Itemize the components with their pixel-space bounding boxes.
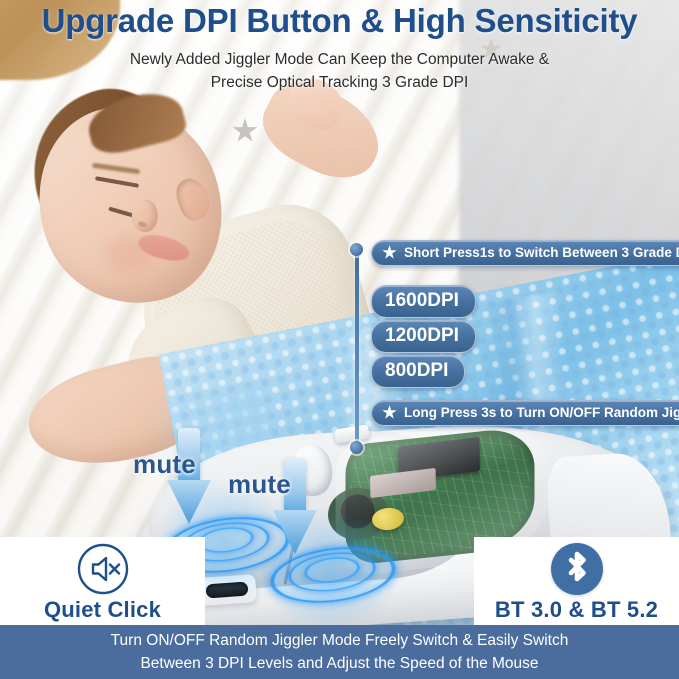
product-marketing-image: mute mute Upgrade DPI Button & High Sens…: [0, 0, 679, 679]
subtitle-line-2: Precise Optical Tracking 3 Grade DPI: [0, 71, 679, 94]
page-title: Upgrade DPI Button & High Sensiticity: [0, 2, 679, 40]
feature-quiet-click: Quiet Click: [0, 537, 205, 623]
callout-dpi-1600-label: 1600DPI: [385, 290, 459, 312]
callout-dpi-1200: 1200DPI: [371, 320, 476, 353]
callout-dpi-800-label: 800DPI: [385, 360, 448, 382]
footer-line-2: Between 3 DPI Levels and Adjust the Spee…: [140, 652, 538, 675]
arrow-head: [167, 480, 211, 524]
mute-speaker-icon: [77, 543, 129, 595]
page-subtitle: Newly Added Jiggler Mode Can Keep the Co…: [0, 48, 679, 94]
subtitle-line-1: Newly Added Jiggler Mode Can Keep the Co…: [0, 48, 679, 71]
star-icon: [382, 245, 397, 260]
feature-quiet-click-label: Quiet Click: [0, 597, 205, 623]
feature-bluetooth-label: BT 3.0 & BT 5.2: [474, 597, 679, 623]
footer-line-1: Turn ON/OFF Random Jiggler Mode Freely S…: [111, 629, 569, 652]
callout-long-press-label: Long Press 3s to Turn ON/OFF Random Jigg…: [404, 405, 679, 420]
callout-long-press: Long Press 3s to Turn ON/OFF Random Jigg…: [371, 400, 679, 426]
bluetooth-badge: [551, 543, 603, 595]
callout-dpi-1200-label: 1200DPI: [385, 325, 459, 347]
callout-short-press-label: Short Press1s to Switch Between 3 Grade …: [404, 245, 679, 260]
callout-short-press: Short Press1s to Switch Between 3 Grade …: [371, 240, 679, 266]
footer-banner: Turn ON/OFF Random Jiggler Mode Freely S…: [0, 625, 679, 679]
mute-label-left: mute: [133, 449, 196, 480]
connector-dot-top: [350, 243, 363, 256]
connector-dot-bottom: [350, 441, 363, 454]
callout-dpi-1600: 1600DPI: [371, 285, 476, 318]
callout-dpi-800: 800DPI: [371, 355, 465, 388]
bluetooth-icon: [551, 543, 603, 595]
feature-bluetooth: BT 3.0 & BT 5.2: [474, 537, 679, 623]
arrow-head: [273, 510, 317, 554]
star-icon: [382, 405, 397, 420]
callout-connector-line: [355, 250, 359, 447]
mute-label-right: mute: [228, 469, 291, 500]
